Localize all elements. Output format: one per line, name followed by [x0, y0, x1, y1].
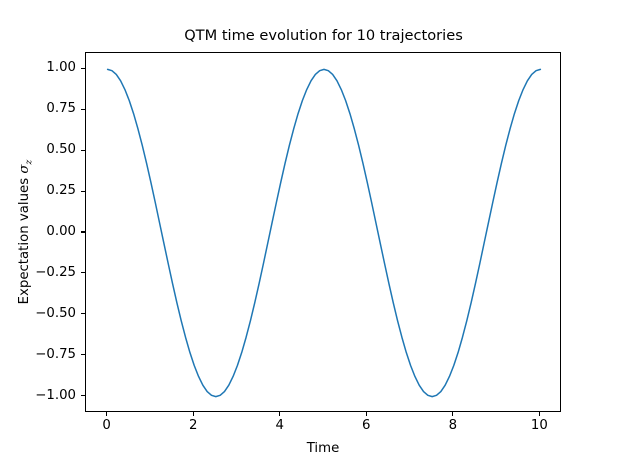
y-tick-label: 0.25 — [46, 184, 76, 198]
y-axis-tick-labels: 1.000.750.500.250.00−0.25−0.50−0.75−1.00 — [0, 0, 76, 466]
x-tick-label: 8 — [449, 419, 457, 433]
y-tick-mark — [81, 313, 85, 314]
x-tick-mark — [106, 412, 107, 416]
y-tick-label: −0.50 — [35, 307, 76, 321]
x-axis-tick-labels: 0246810 — [0, 419, 623, 439]
x-tick-mark — [539, 412, 540, 416]
y-axis-label-text: Expectation values — [17, 174, 32, 305]
y-tick-label: 0.50 — [46, 143, 76, 157]
sigma-symbol: σ — [17, 165, 32, 174]
x-tick-mark — [452, 412, 453, 416]
x-tick-mark — [279, 412, 280, 416]
x-tick-label: 2 — [189, 419, 197, 433]
x-tick-label: 10 — [531, 419, 548, 433]
y-tick-mark — [81, 68, 85, 69]
data-series-line — [108, 69, 541, 396]
y-tick-label: 0.75 — [46, 102, 76, 116]
y-axis-label: Expectation values σz — [14, 52, 36, 412]
line-plot-svg — [86, 53, 562, 413]
y-tick-mark — [81, 150, 85, 151]
x-tick-label: 4 — [275, 419, 283, 433]
y-tick-mark — [81, 272, 85, 273]
y-tick-mark — [81, 109, 85, 110]
x-axis-label: Time — [85, 441, 561, 456]
x-tick-mark — [193, 412, 194, 416]
y-tick-mark — [81, 395, 85, 396]
y-tick-label: −0.75 — [35, 348, 76, 362]
y-tick-mark — [81, 354, 85, 355]
y-tick-label: 0.00 — [46, 225, 76, 239]
y-tick-mark — [81, 191, 85, 192]
y-tick-label: 1.00 — [46, 61, 76, 75]
x-tick-mark — [366, 412, 367, 416]
matplotlib-figure: QTM time evolution for 10 trajectories 1… — [0, 0, 623, 466]
plot-axes-area — [85, 52, 561, 412]
y-tick-mark — [81, 231, 85, 232]
x-tick-label: 6 — [362, 419, 370, 433]
y-tick-label: −1.00 — [35, 389, 76, 403]
chart-title: QTM time evolution for 10 trajectories — [85, 27, 562, 45]
y-tick-label: −0.25 — [35, 266, 76, 280]
x-tick-label: 0 — [102, 419, 110, 433]
sigma-subscript-z: z — [24, 160, 35, 165]
